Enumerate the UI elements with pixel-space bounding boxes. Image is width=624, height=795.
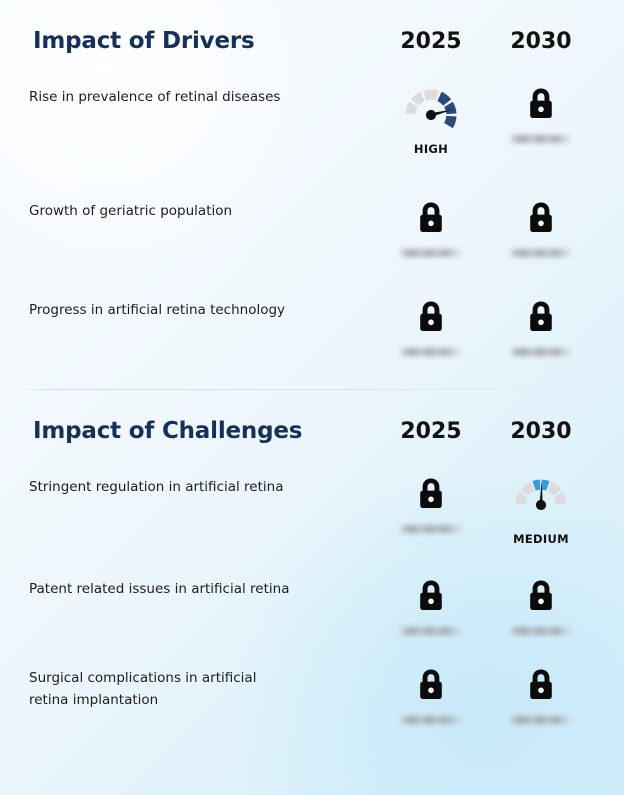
gauge-icon — [511, 476, 571, 528]
drivers-header-row: Impact of Drivers 2025 2030 — [0, 18, 624, 64]
impact-cell-2030[interactable] — [504, 86, 578, 143]
table-row: Growth of geriatric population — [0, 200, 624, 257]
impact-matrix-page: Impact of Drivers 2025 2030 Rise in prev… — [0, 0, 624, 795]
lock-icon — [416, 476, 446, 516]
locked-value-placeholder — [510, 348, 572, 356]
lock-icon — [526, 200, 556, 240]
impact-cell-2030[interactable] — [504, 578, 578, 635]
row-label: Stringent regulation in artificial retin… — [0, 476, 300, 498]
impact-cell-2025[interactable] — [394, 200, 468, 257]
column-header-2025: 2025 — [394, 29, 468, 54]
lock-icon — [526, 578, 556, 618]
row-label: Growth of geriatric population — [0, 200, 300, 222]
table-row: Surgical complications in artificial ret… — [0, 667, 624, 724]
column-header-2030: 2030 — [504, 29, 578, 54]
table-row: Stringent regulation in artificial retin… — [0, 476, 624, 546]
challenges-header-row: Impact of Challenges 2025 2030 — [0, 408, 624, 454]
row-label: Progress in artificial retina technology — [0, 299, 300, 321]
lock-icon — [416, 578, 446, 618]
locked-value-placeholder — [510, 135, 572, 143]
locked-value-placeholder — [510, 249, 572, 257]
row-label: Surgical complications in artificial ret… — [0, 667, 300, 711]
column-header-2025: 2025 — [394, 419, 468, 444]
locked-value-placeholder — [400, 348, 462, 356]
lock-icon — [416, 200, 446, 240]
lock-icon — [526, 299, 556, 339]
drivers-title: Impact of Drivers — [0, 28, 255, 54]
locked-value-placeholder — [400, 525, 462, 533]
lock-icon — [416, 299, 446, 339]
locked-value-placeholder — [400, 627, 462, 635]
row-label: Patent related issues in artificial reti… — [0, 578, 300, 600]
lock-icon — [416, 667, 446, 707]
impact-cell-2025[interactable] — [394, 667, 468, 724]
table-row: Progress in artificial retina technology — [0, 299, 624, 356]
impact-cell-2025[interactable] — [394, 476, 468, 533]
impact-level-label: HIGH — [414, 142, 448, 156]
impact-cell-2030[interactable] — [504, 200, 578, 257]
row-label: Rise in prevalence of retinal diseases — [0, 86, 300, 108]
lock-icon — [526, 667, 556, 707]
impact-cell-2025[interactable] — [394, 299, 468, 356]
impact-level-label: MEDIUM — [513, 532, 569, 546]
impact-cell-2025[interactable] — [394, 578, 468, 635]
table-row: Rise in prevalence of retinal diseases — [0, 86, 624, 156]
challenges-title: Impact of Challenges — [0, 418, 302, 444]
section-drivers: Impact of Drivers 2025 2030 Rise in prev… — [0, 0, 624, 356]
locked-value-placeholder — [400, 249, 462, 257]
gauge-icon — [401, 86, 461, 138]
lock-icon — [526, 86, 556, 126]
section-challenges: Impact of Challenges 2025 2030 Stringent… — [0, 390, 624, 724]
table-row: Patent related issues in artificial reti… — [0, 578, 624, 635]
impact-cell-2030[interactable]: MEDIUM — [504, 476, 578, 546]
locked-value-placeholder — [400, 716, 462, 724]
column-header-2030: 2030 — [504, 419, 578, 444]
locked-value-placeholder — [510, 716, 572, 724]
impact-cell-2030[interactable] — [504, 667, 578, 724]
impact-cell-2030[interactable] — [504, 299, 578, 356]
locked-value-placeholder — [510, 627, 572, 635]
impact-cell-2025[interactable]: HIGH — [394, 86, 468, 156]
